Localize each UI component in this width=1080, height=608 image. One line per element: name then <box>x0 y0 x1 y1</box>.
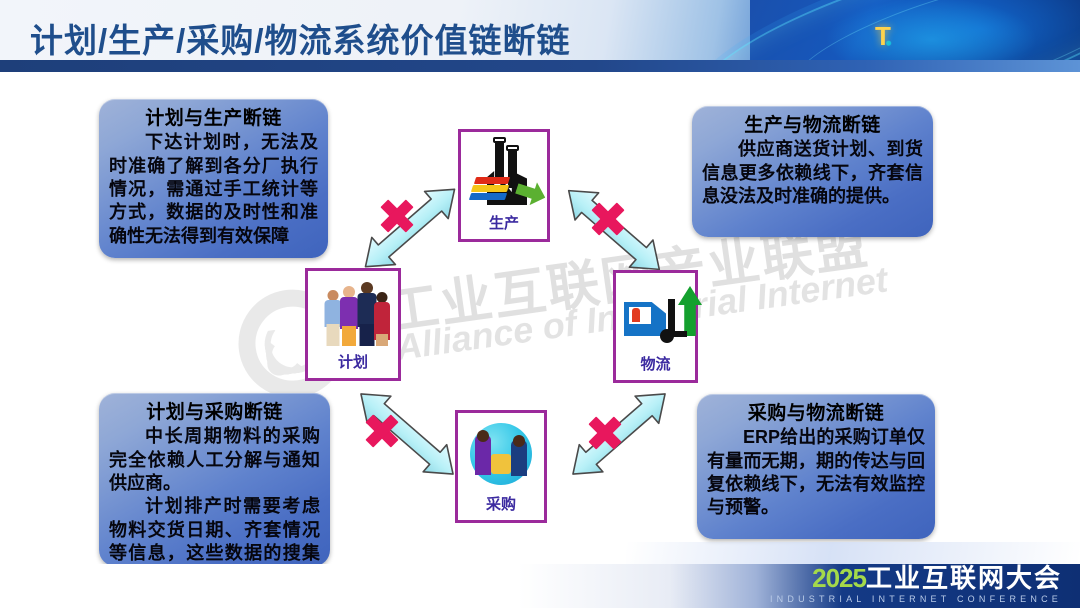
footer-sheen <box>626 542 1080 564</box>
node-label: 计划 <box>308 351 398 372</box>
connector-plan-procurement <box>340 378 474 490</box>
break-marker-plan-production <box>377 196 417 236</box>
callout-paragraph: 供应商送货计划、到货信息更多依赖线下，齐套信息没法及时准确的提供。 <box>702 138 923 208</box>
node-production[interactable]: 生产 <box>458 129 550 242</box>
conference-name-en: INDUSTRIAL INTERNET CONFERENCE <box>770 595 1062 604</box>
people-group-icon <box>308 278 398 348</box>
conference-brand: 2025工业互联网大会 INDUSTRIAL INTERNET CONFEREN… <box>770 565 1062 604</box>
callout-body: 供应商送货计划、到货信息更多依赖线下，齐套信息没法及时准确的提供。 <box>702 138 923 208</box>
forklift-icon <box>616 280 695 350</box>
handshake-icon <box>458 420 544 490</box>
conference-brand-main: 2025工业互联网大会 <box>770 565 1062 591</box>
conference-year: 2025 <box>812 563 866 593</box>
node-label: 生产 <box>461 212 547 233</box>
callout-title: 采购与物流断链 <box>707 402 925 425</box>
break-marker-procurement-logistics <box>585 413 625 453</box>
break-marker-plan-procurement <box>362 411 402 451</box>
connector-procurement-logistics <box>552 378 686 490</box>
node-label: 物流 <box>616 353 695 374</box>
slide-root: T 计划/生产/采购/物流系统价值链断链 工业互联网产业联盟 Alliance … <box>0 0 1080 608</box>
node-plan[interactable]: 计划 <box>305 268 401 381</box>
node-procurement[interactable]: 采购 <box>455 410 547 523</box>
callout-body: 下达计划时，无法及时准确了解到各分厂执行情况，需通过手工统计等方式，数据的及时性… <box>109 131 318 248</box>
callout-plan-procurement: 计划与采购断链 中长周期物料的采购完全依赖人工分解与通知供应商。 计划排产时需要… <box>99 393 330 566</box>
callout-paragraph: ERP给出的采购订单仅有量而无期，期的传达与回复依赖线下，无法有效监控与预警。 <box>707 426 925 520</box>
callout-paragraph: 下达计划时，无法及时准确了解到各分厂执行情况，需通过手工统计等方式，数据的及时性… <box>109 131 318 248</box>
break-marker-production-logistics <box>588 199 628 239</box>
node-label: 采购 <box>458 493 544 514</box>
slide-footer: 2025工业互联网大会 INDUSTRIAL INTERNET CONFEREN… <box>0 564 1080 608</box>
callout-title: 计划与生产断链 <box>109 107 318 130</box>
callout-paragraph-1: 中长周期物料的采购完全依赖人工分解与通知供应商。 <box>109 425 320 495</box>
header-t-logo-icon: T <box>875 23 889 49</box>
callout-production-logistics: 生产与物流断链 供应商送货计划、到货信息更多依赖线下，齐套信息没法及时准确的提供… <box>692 106 933 237</box>
callout-body: ERP给出的采购订单仅有量而无期，期的传达与回复依赖线下，无法有效监控与预警。 <box>707 426 925 520</box>
conference-name-cn: 工业互联网大会 <box>866 563 1062 593</box>
factory-icon <box>461 139 547 209</box>
node-logistics[interactable]: 物流 <box>613 270 698 383</box>
callout-procurement-logistics: 采购与物流断链 ERP给出的采购订单仅有量而无期，期的传达与回复依赖线下，无法有… <box>697 394 935 539</box>
callout-title: 计划与采购断链 <box>109 401 320 424</box>
callout-title: 生产与物流断链 <box>702 114 923 137</box>
page-title: 计划/生产/采购/物流系统价值链断链 <box>30 14 571 62</box>
callout-plan-production: 计划与生产断链 下达计划时，无法及时准确了解到各分厂执行情况，需通过手工统计等方… <box>99 99 328 258</box>
